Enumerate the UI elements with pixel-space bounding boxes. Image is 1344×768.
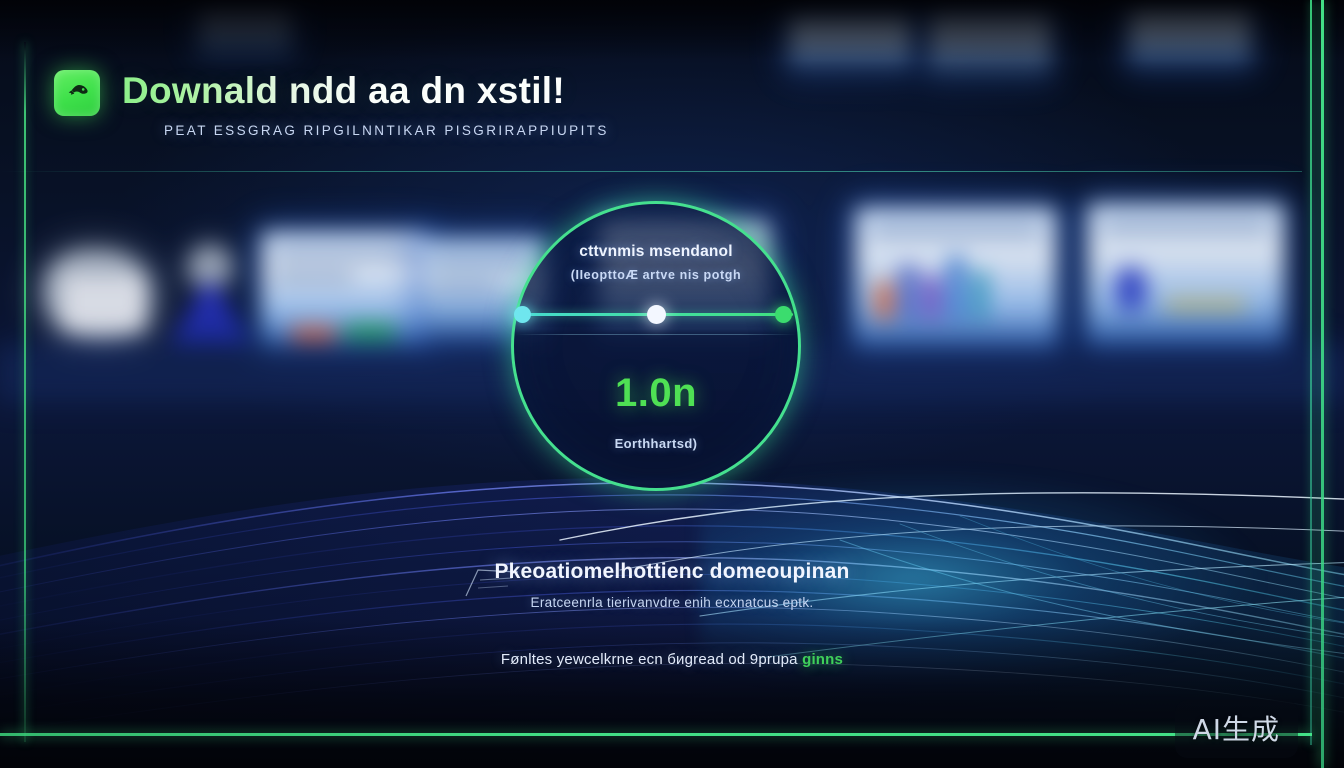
header: Downald ndd aa dn xstil! PEAT ESSGRAG RI… xyxy=(54,70,609,138)
bg-blob-left-2 xyxy=(62,275,146,333)
progress-circle-sublabel: (IIeopttoÆ artve nis potgh xyxy=(511,268,801,282)
progress-start-node[interactable] xyxy=(514,306,531,323)
page-title: Downald ndd aa dn xstil! xyxy=(122,72,609,111)
bottom-footer-text: Fønltes yewcelkrne ecn биgreaԁ od 9prupa xyxy=(501,651,802,668)
progress-circle[interactable]: cttvnmis msendanol (IIeopttoÆ artve nis … xyxy=(511,201,801,491)
progress-current-node[interactable] xyxy=(647,305,666,324)
header-text-group: Downald ndd aa dn xstil! PEAT ESSGRAG RI… xyxy=(122,70,609,138)
screenshot-canvas: Downald ndd aa dn xstil! PEAT ESSGRAG RI… xyxy=(0,0,1344,768)
bg-person-head xyxy=(188,245,232,289)
progress-metric-value: 1.0n xyxy=(511,371,801,416)
bottom-footer: Fønltes yewcelkrne ecn биgreaԁ od 9prupa… xyxy=(0,651,1344,668)
top-vignette xyxy=(0,0,1344,60)
progress-circle-divider xyxy=(515,334,797,335)
bottom-heading: Pkeoatiomelhottienc domeoupinan xyxy=(0,560,1344,584)
page-subtitle: PEAT ESSGRAG RIPGILNNTIKAR PISGRIRAPPIUP… xyxy=(164,123,609,138)
bg-monitor-5 xyxy=(1088,204,1284,346)
progress-end-node[interactable] xyxy=(775,306,792,323)
bg-monitor-4 xyxy=(856,208,1056,350)
bg-monitor-1 xyxy=(262,232,428,348)
ai-generated-watermark: AI生成 xyxy=(1175,700,1298,758)
download-app-icon[interactable] xyxy=(54,70,100,116)
progress-circle-label: cttvnmis msendanol xyxy=(511,243,801,261)
bottom-footer-link[interactable]: ginns xyxy=(802,651,843,668)
bottom-subheading: Eratceenrla tierivanvdre enih ecxnatcus … xyxy=(0,595,1344,610)
bg-person-body xyxy=(168,283,252,345)
bottom-copy-block: Pkeoatiomelhottienc domeoupinan Eratceen… xyxy=(0,560,1344,668)
progress-metric-caption: Eorthhartsd) xyxy=(511,436,801,451)
